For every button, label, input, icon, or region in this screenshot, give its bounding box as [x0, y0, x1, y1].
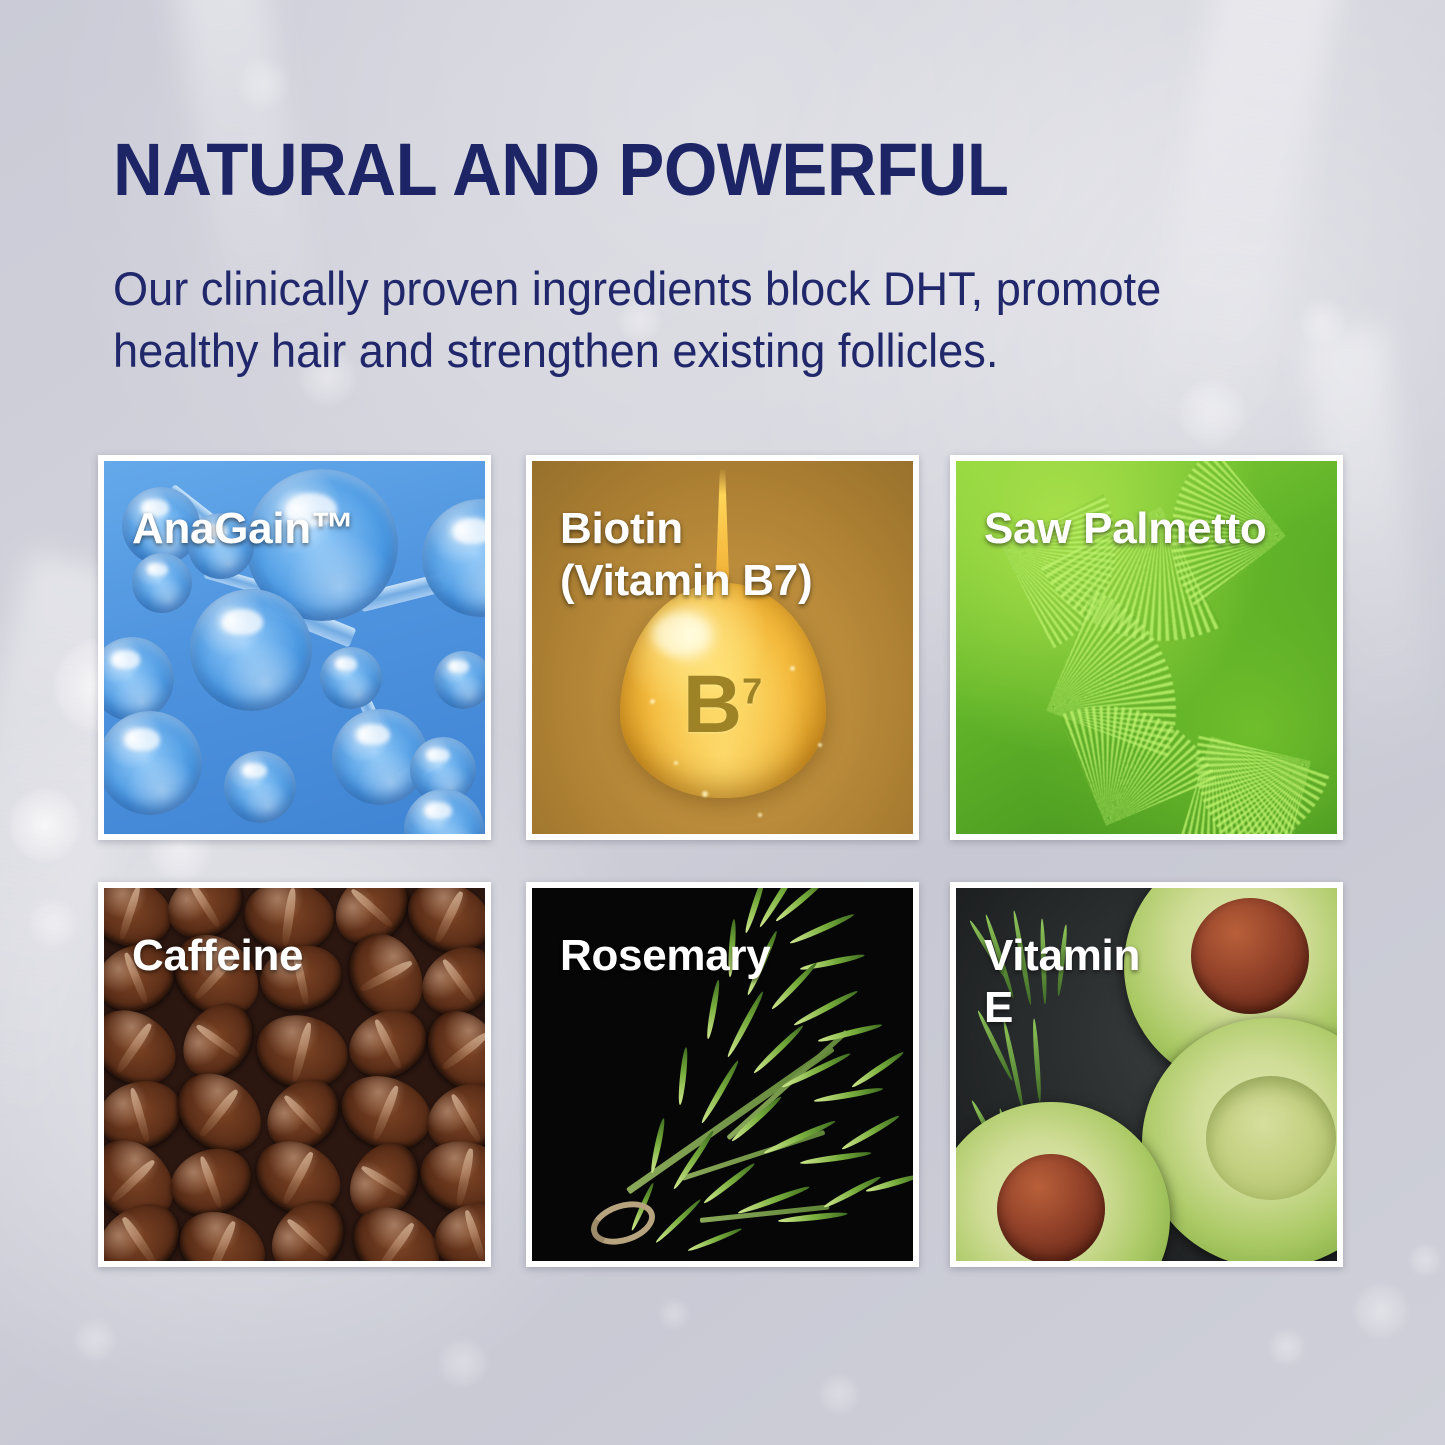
ingredient-tile-vitamin-e[interactable]: Vitamin E [950, 882, 1343, 1267]
avocado-image: Vitamin E [956, 888, 1337, 1261]
ingredient-label-rosemary: Rosemary [560, 930, 770, 982]
ingredient-label-anagain: AnaGain™ [132, 503, 355, 555]
ingredient-tile-rosemary[interactable]: Rosemary [526, 882, 919, 1267]
ingredient-tile-biotin[interactable]: B7 Biotin (Vitamin B7) [526, 455, 919, 840]
page-subtitle: Our clinically proven ingredients block … [113, 258, 1275, 382]
rosemary-sprig-image: Rosemary [532, 888, 913, 1261]
ingredient-label-vitamin-e: Vitamin E [984, 930, 1140, 1034]
ingredient-tile-saw-palmetto[interactable]: Saw Palmetto [950, 455, 1343, 840]
ingredient-label-biotin: Biotin (Vitamin B7) [560, 503, 812, 607]
ingredient-label-saw-palmetto: Saw Palmetto [984, 503, 1267, 555]
ingredient-label-caffeine: Caffeine [132, 930, 303, 982]
page-title: NATURAL AND POWERFUL [113, 131, 1008, 209]
oil-droplet-image: B7 Biotin (Vitamin B7) [532, 461, 913, 834]
palm-frond-image: Saw Palmetto [956, 461, 1337, 834]
ingredient-grid: AnaGain™ B7 Biotin (Vitamin B7) [98, 455, 1343, 1267]
droplet-b7-mark: B7 [683, 664, 762, 746]
molecule-image: AnaGain™ [104, 461, 485, 834]
ingredient-tile-anagain[interactable]: AnaGain™ [98, 455, 491, 840]
infographic-page: NATURAL AND POWERFUL Our clinically prov… [0, 0, 1445, 1445]
ingredient-tile-caffeine[interactable]: Caffeine [98, 882, 491, 1267]
coffee-beans-image: Caffeine [104, 888, 485, 1261]
